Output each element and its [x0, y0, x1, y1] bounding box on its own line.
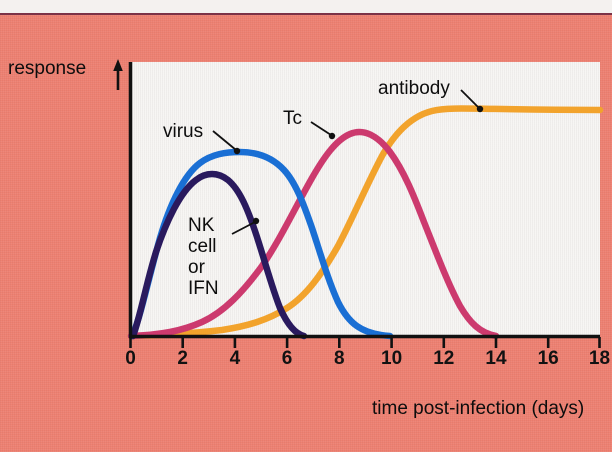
chart-canvas: [0, 0, 612, 452]
curve-label-tc: Tc: [283, 108, 302, 130]
x-tick-label-0: 0: [111, 348, 151, 370]
nk-label-line-3: or: [188, 257, 219, 278]
curve-label-nk-ifn: NK cell or IFN: [188, 215, 219, 299]
response-up-arrow-icon: [113, 59, 123, 90]
x-tick-label-6: 6: [267, 348, 307, 370]
x-tick-label-8: 8: [319, 348, 359, 370]
x-tick-label-12: 12: [424, 348, 464, 370]
curve-label-antibody: antibody: [378, 78, 450, 100]
immune-response-figure: response time post-infection (days) viru…: [0, 0, 612, 452]
leader-line-tc: [311, 122, 335, 139]
x-tick-label-10: 10: [372, 348, 412, 370]
nk-label-line-1: NK: [188, 215, 219, 236]
nk-label-line-2: cell: [188, 236, 219, 257]
x-tick-label-2: 2: [163, 348, 203, 370]
x-axis-ticks: [131, 337, 600, 348]
x-tick-label-4: 4: [215, 348, 255, 370]
x-tick-label-18: 18: [580, 348, 612, 370]
x-axis-title: time post-infection (days): [372, 398, 584, 420]
nk-label-line-4: IFN: [188, 278, 219, 299]
y-axis-title: response: [8, 58, 86, 80]
x-tick-label-14: 14: [476, 348, 516, 370]
curve-label-virus: virus: [163, 121, 203, 143]
x-tick-label-16: 16: [528, 348, 568, 370]
